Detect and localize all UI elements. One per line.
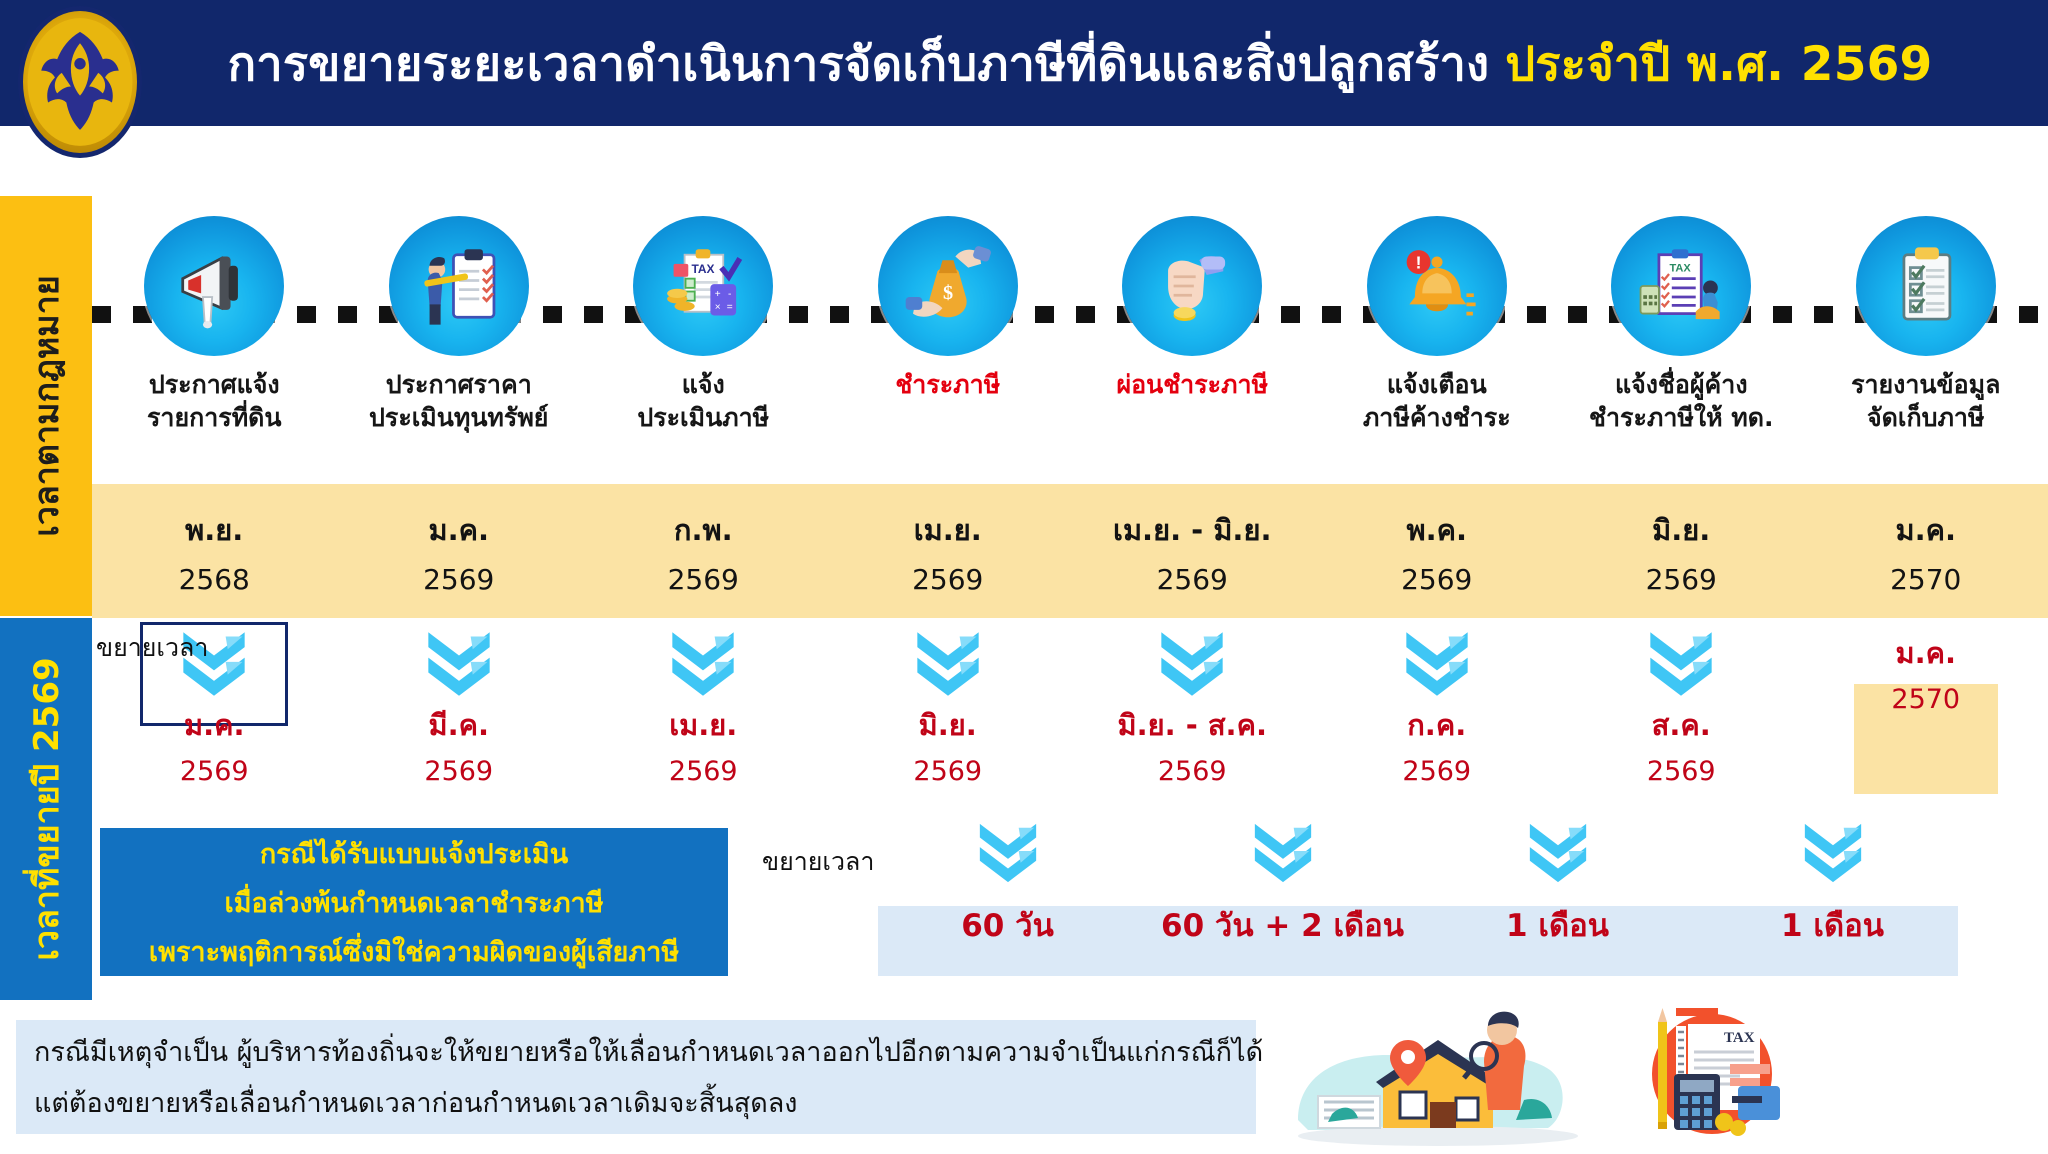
double-chevron-down-icon: [422, 628, 496, 700]
footer-note-line-2: แต่ต้องขยายหรือเลื่อนกำหนดเวลาก่อนกำหนดเ…: [34, 1081, 1238, 1124]
assessment-note-box: กรณีได้รับแบบแจ้งประเมิน เมื่อล่วงพ้นกำห…: [100, 828, 728, 976]
legal-date-month-6: พ.ค.: [1406, 507, 1467, 553]
extended-date-cell-6: ก.ค.2569: [1315, 618, 1560, 798]
hand-coin-icon: [1122, 216, 1262, 356]
assessment-note-line-1: กรณีได้รับแบบแจ้งประเมิน: [260, 832, 568, 875]
legal-date-year-5: 2569: [1157, 563, 1228, 596]
extend-tag-bottom: ขยายเวลา: [762, 842, 874, 882]
duration-cell-2: 60 วัน + 2 เดือน: [1145, 820, 1420, 980]
double-chevron-down-icon: [1798, 820, 1868, 886]
timeline-step-8: รายงานข้อมูล จัดเก็บภาษี: [1804, 196, 2048, 486]
extended-date-month-4: มิ.ย.: [919, 702, 977, 748]
sidebar-legal-time: เวลาตามกฎหมาย: [0, 196, 92, 616]
timeline-step-label-6: แจ้งเตือน ภาษีค้างชำระ: [1363, 368, 1511, 434]
double-chevron-down-icon: [1400, 628, 1474, 700]
extended-date-month-3: เม.ย.: [669, 702, 737, 748]
legal-date-month-8: ม.ค.: [1895, 507, 1956, 553]
timeline-step-label-5: ผ่อนชำระภาษี: [1116, 368, 1268, 401]
extended-date-cell-7: ส.ค.2569: [1559, 618, 1804, 798]
extended-date-month-2: มี.ค.: [428, 702, 489, 748]
timeline-step-4: $ ชำระภาษี: [826, 196, 1071, 486]
tax-calculator-illustration: TAX: [1620, 1000, 1790, 1150]
page-title: การขยายระยะเวลาดำเนินการจัดเก็บภาษีที่ดิ…: [185, 0, 1975, 126]
legal-date-year-6: 2569: [1401, 563, 1472, 596]
duration-cell-3: 1 เดือน: [1420, 820, 1695, 980]
svg-text:TAX: TAX: [1724, 1030, 1755, 1046]
timeline-step-label-1: ประกาศแจ้ง รายการที่ดิน: [147, 368, 282, 434]
duration-cell-4: 1 เดือน: [1695, 820, 1970, 980]
sidebar-legal-time-label: เวลาตามกฎหมาย: [19, 275, 73, 536]
checklist-icon: [1856, 216, 1996, 356]
extend-tag-top: ขยายเวลา: [96, 628, 208, 668]
legal-date-cell-1: พ.ย.2568: [92, 484, 337, 618]
duration-text-4: 1 เดือน: [1781, 900, 1884, 950]
timeline-row: ประกาศแจ้ง รายการที่ดิน ประกาศราคา ประเม…: [92, 196, 2048, 486]
legal-date-year-8: 2570: [1890, 563, 1961, 596]
duration-row: 60 วัน 60 วัน + 2 เดือน 1 เดือน 1 เดือน: [870, 820, 1970, 980]
svg-text:+: +: [715, 289, 721, 300]
svg-text:$: $: [943, 282, 953, 304]
tax-document-icon: TAX +- ×=: [633, 216, 773, 356]
legal-date-month-1: พ.ย.: [185, 507, 243, 553]
double-chevron-down-icon: [1644, 628, 1718, 700]
sidebar-extended-time: เวลาที่ขยายปี 2569: [0, 618, 92, 1000]
legal-dates-band: พ.ย.2568ม.ค.2569ก.พ.2569เม.ย.2569เม.ย. -…: [92, 484, 2048, 618]
extended-date-year-2: 2569: [424, 756, 493, 787]
legal-date-year-4: 2569: [912, 563, 983, 596]
timeline-step-7: TAX แจ้งชื่อผู้ค้าง ชำระภาษีให้ ทด.: [1559, 196, 1804, 486]
legal-date-cell-3: ก.พ.2569: [581, 484, 826, 618]
extended-date-month-7: ส.ค.: [1652, 702, 1711, 748]
duration-text-1: 60 วัน: [961, 900, 1054, 950]
legal-date-cell-8: ม.ค.2570: [1804, 484, 2048, 618]
legal-date-month-2: ม.ค.: [428, 507, 489, 553]
timeline-steps: ประกาศแจ้ง รายการที่ดิน ประกาศราคา ประเม…: [92, 196, 2048, 486]
svg-text:TAX: TAX: [692, 262, 715, 276]
legal-date-month-7: มิ.ย.: [1652, 507, 1710, 553]
duration-text-2: 60 วัน + 2 เดือน: [1161, 900, 1404, 950]
timeline-step-label-4: ชำระภาษี: [895, 368, 1000, 401]
timeline-step-3: TAX +- ×= แจ้ง ประเมินภาษี: [581, 196, 826, 486]
duration-cell-1: 60 วัน: [870, 820, 1145, 980]
svg-text:×: ×: [715, 302, 721, 313]
legal-date-year-1: 2568: [179, 563, 250, 596]
extended-date-year-6: 2569: [1402, 756, 1471, 787]
extended-date-cell-4: มิ.ย.2569: [826, 618, 1071, 798]
legal-date-month-5: เม.ย. - มิ.ย.: [1113, 507, 1271, 553]
legal-date-cell-6: พ.ค.2569: [1315, 484, 1560, 618]
sidebar-extended-time-label: เวลาที่ขยายปี 2569: [19, 657, 73, 960]
garuda-emblem-icon: [18, 6, 142, 158]
double-chevron-down-icon: [1155, 628, 1229, 700]
svg-text:TAX: TAX: [1670, 262, 1692, 274]
house-inspection-illustration: [1288, 1000, 1578, 1150]
double-chevron-down-icon: [666, 628, 740, 700]
timeline-step-2: ประกาศราคา ประเมินทุนทรัพย์: [337, 196, 582, 486]
double-chevron-down-icon: [911, 628, 985, 700]
legal-date-cell-7: มิ.ย.2569: [1559, 484, 1804, 618]
timeline-step-label-8: รายงานข้อมูล จัดเก็บภาษี: [1851, 368, 2000, 434]
extended-date-year-1: 2569: [180, 756, 249, 787]
legal-date-cell-2: ม.ค.2569: [337, 484, 582, 618]
extended-date-cell-3: เม.ย.2569: [581, 618, 826, 798]
page-title-main: การขยายระยะเวลาดำเนินการจัดเก็บภาษีที่ดิ…: [228, 26, 1490, 101]
megaphone-icon: [144, 216, 284, 356]
timeline-step-label-3: แจ้ง ประเมินภาษี: [637, 368, 769, 434]
legal-date-month-3: ก.พ.: [674, 507, 733, 553]
legal-date-year-2: 2569: [423, 563, 494, 596]
extended-date-month-6: ก.ค.: [1407, 702, 1466, 748]
extended-date-year-5: 2569: [1158, 756, 1227, 787]
timeline-step-5: ผ่อนชำระภาษี: [1070, 196, 1315, 486]
duration-text-3: 1 เดือน: [1506, 900, 1609, 950]
extended-date-year-8: 2570: [1891, 684, 1960, 715]
tax-list-person-icon: TAX: [1611, 216, 1751, 356]
assessment-note-line-2: เมื่อล่วงพ้นกำหนดเวลาชำระภาษี: [224, 881, 603, 924]
timeline-step-6: ! แจ้งเตือน ภาษีค้างชำระ: [1315, 196, 1560, 486]
extended-date-year-4: 2569: [913, 756, 982, 787]
extended-date-month-8: ม.ค.: [1895, 630, 1956, 676]
alert-bell-icon: !: [1367, 216, 1507, 356]
double-chevron-down-icon: [1248, 820, 1318, 886]
extended-date-cell-8: ม.ค.2570: [1804, 618, 2048, 798]
legal-date-year-7: 2569: [1646, 563, 1717, 596]
legal-date-cell-5: เม.ย. - มิ.ย.2569: [1070, 484, 1315, 618]
double-chevron-down-icon: [1523, 820, 1593, 886]
footer-note: กรณีมีเหตุจำเป็น ผู้บริหารท้องถิ่นจะให้ข…: [16, 1020, 1256, 1134]
timeline-step-label-7: แจ้งชื่อผู้ค้าง ชำระภาษีให้ ทด.: [1589, 368, 1773, 434]
extended-date-month-1: ม.ค.: [184, 702, 245, 748]
legal-date-year-3: 2569: [668, 563, 739, 596]
page-header: การขยายระยะเวลาดำเนินการจัดเก็บภาษีที่ดิ…: [0, 0, 2048, 126]
svg-text:-: -: [728, 289, 731, 300]
clipboard-person-icon: [389, 216, 529, 356]
extended-date-year-7: 2569: [1647, 756, 1716, 787]
timeline-step-1: ประกาศแจ้ง รายการที่ดิน: [92, 196, 337, 486]
assessment-note-line-3: เพราะพฤติการณ์ซึ่งมิใช่ความผิดของผู้เสีย…: [149, 930, 679, 973]
timeline-step-label-2: ประกาศราคา ประเมินทุนทรัพย์: [369, 368, 548, 434]
legal-date-month-4: เม.ย.: [914, 507, 982, 553]
extended-date-year-3: 2569: [669, 756, 738, 787]
footer-note-line-1: กรณีมีเหตุจำเป็น ผู้บริหารท้องถิ่นจะให้ข…: [34, 1030, 1238, 1073]
double-chevron-down-icon: [973, 820, 1043, 886]
svg-text:!: !: [1415, 253, 1421, 273]
legal-date-cell-4: เม.ย.2569: [826, 484, 1071, 618]
extended-date-cell-2: มี.ค.2569: [337, 618, 582, 798]
money-bag-hand-icon: $: [878, 216, 1018, 356]
svg-text:=: =: [727, 302, 733, 313]
extended-date-month-5: มิ.ย. - ส.ค.: [1117, 702, 1267, 748]
extended-dates-row: ม.ค.2569 มี.ค.2569 เม.ย.2569 มิ.ย.2569 ม…: [92, 618, 2048, 798]
extended-date-cell-5: มิ.ย. - ส.ค.2569: [1070, 618, 1315, 798]
page-title-highlight: ประจำปี พ.ศ. 2569: [1505, 26, 1932, 101]
